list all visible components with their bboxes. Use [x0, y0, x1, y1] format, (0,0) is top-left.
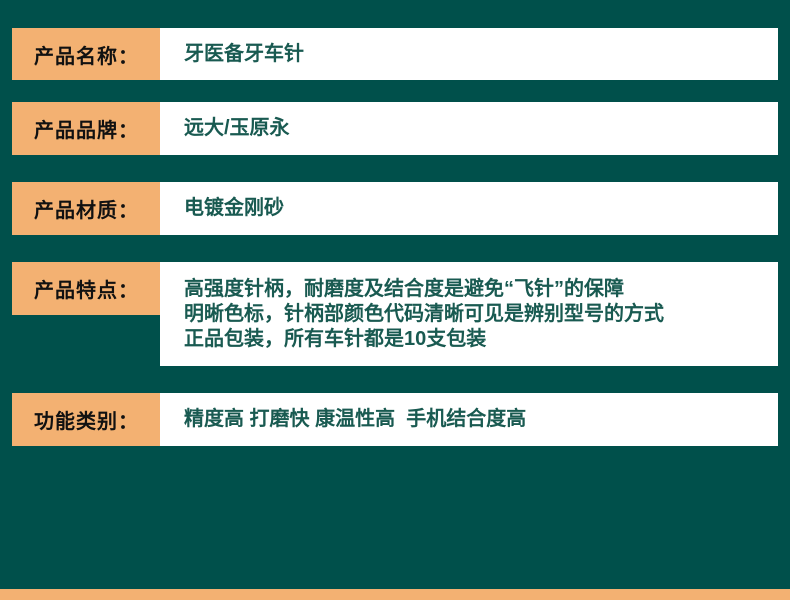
spec-value-product-material: 电镀金刚砂	[160, 182, 778, 235]
spec-value-line: 远大/玉原永	[184, 116, 762, 141]
product-spec-sheet: 产品名称： 牙医备牙车针 产品品牌： 远大/玉原永 产品材质： 电镀金刚砂 产品…	[0, 28, 790, 600]
bottom-accent-bar	[0, 589, 790, 600]
spec-value-line: 牙医备牙车针	[184, 42, 762, 67]
spec-row-product-features: 产品特点： 高强度针柄，耐磨度及结合度是避免“飞针”的保障 明晰色标，针柄部颜色…	[12, 262, 778, 366]
spec-label-function-category: 功能类别：	[12, 393, 160, 446]
spec-label-product-features: 产品特点：	[12, 262, 160, 315]
spec-value-function-category: 精度高 打磨快 康温性高 手机结合度高	[160, 393, 778, 446]
spec-value-line: 明晰色标，针柄部颜色代码清晰可见是辨别型号的方式	[184, 302, 762, 327]
spec-row-product-brand: 产品品牌： 远大/玉原永	[12, 102, 778, 155]
spec-row-product-material: 产品材质： 电镀金刚砂	[12, 182, 778, 235]
spec-value-product-brand: 远大/玉原永	[160, 102, 778, 155]
spec-label-product-name: 产品名称：	[12, 28, 160, 80]
spec-value-line: 精度高 打磨快 康温性高 手机结合度高	[184, 407, 762, 432]
spec-label-product-brand: 产品品牌：	[12, 102, 160, 155]
spec-row-function-category: 功能类别： 精度高 打磨快 康温性高 手机结合度高	[12, 393, 778, 446]
spec-value-line: 高强度针柄，耐磨度及结合度是避免“飞针”的保障	[184, 277, 762, 302]
spec-value-product-name: 牙医备牙车针	[160, 28, 778, 80]
spec-value-line: 电镀金刚砂	[184, 196, 762, 221]
spec-value-line: 正品包装，所有车针都是10支包装	[184, 327, 762, 352]
spec-value-product-features: 高强度针柄，耐磨度及结合度是避免“飞针”的保障 明晰色标，针柄部颜色代码清晰可见…	[160, 262, 778, 366]
spec-row-product-name: 产品名称： 牙医备牙车针	[12, 28, 778, 80]
spec-label-product-material: 产品材质：	[12, 182, 160, 235]
